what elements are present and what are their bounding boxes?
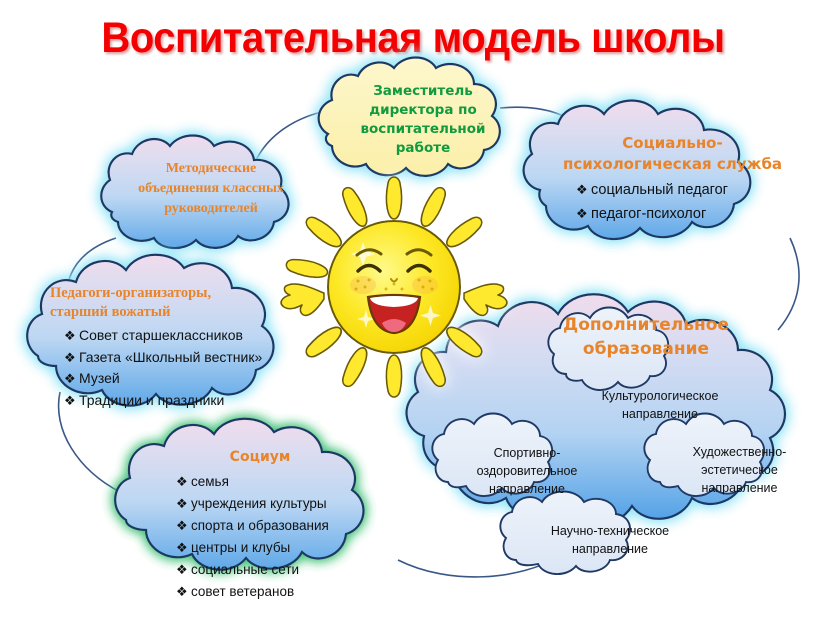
list-item-label: социальные сети bbox=[191, 562, 299, 577]
socium-list: ❖семья ❖учреждения культуры ❖спорта и об… bbox=[140, 471, 380, 603]
additional-education-heading: Дополнительное образование bbox=[546, 313, 746, 361]
list-item-label: Совет старшеклассников bbox=[79, 327, 243, 343]
sci-line-2: направление bbox=[520, 540, 700, 558]
diamond-bullet-icon: ❖ bbox=[176, 559, 191, 581]
additional-heading-line-1: Дополнительное bbox=[546, 313, 746, 337]
method-line-1: Методические bbox=[111, 159, 311, 179]
sun-right-hand bbox=[464, 284, 507, 315]
list-item: ❖Газета «Школьный вестник» bbox=[64, 347, 300, 369]
deputy-line-4: работе bbox=[333, 139, 513, 158]
list-item: ❖учреждения культуры bbox=[176, 493, 380, 515]
method-line-3: руководителей bbox=[111, 199, 311, 219]
art-line-1: Художественно- bbox=[662, 443, 817, 461]
socpsy-heading-line-1: Социально- bbox=[540, 133, 805, 154]
list-item-label: совет ветеранов bbox=[191, 584, 294, 599]
pedagogue-organizers-text: Педагоги-организаторы, старший вожатый ❖… bbox=[50, 284, 300, 411]
socium-text: Социум ❖семья ❖учреждения культуры ❖спор… bbox=[140, 448, 380, 603]
list-item-label: Традиции и праздники bbox=[79, 392, 224, 408]
diamond-bullet-icon: ❖ bbox=[576, 178, 591, 201]
diamond-bullet-icon: ❖ bbox=[176, 537, 191, 559]
list-item: ❖спорта и образования bbox=[176, 515, 380, 537]
socpsy-heading-line-2: психологическая служба bbox=[540, 154, 805, 175]
list-item-label: центры и клубы bbox=[191, 540, 290, 555]
art-line-3: направление bbox=[662, 479, 817, 497]
deputy-line-3: воспитательной bbox=[333, 120, 513, 139]
socpsy-heading: Социально- психологическая служба bbox=[540, 133, 805, 175]
additional-heading-line-2: образование bbox=[546, 337, 746, 361]
sport-line-3: направление bbox=[452, 480, 602, 498]
diamond-bullet-icon: ❖ bbox=[64, 347, 79, 369]
list-item-label: учреждения культуры bbox=[191, 496, 327, 511]
pedagogues-heading-line-1: Педагоги-организаторы, bbox=[50, 284, 300, 303]
artistic-aesthetic-direction-label: Художественно- эстетическое направление bbox=[662, 443, 817, 497]
sport-health-direction-label: Спортивно- оздоровительное направление bbox=[452, 444, 602, 498]
socpsy-list: ❖социальный педагог ❖педагог-психолог bbox=[540, 178, 805, 226]
socium-heading: Социум bbox=[140, 448, 380, 467]
methodical-associations-text: Методические объединения классных руково… bbox=[111, 159, 311, 219]
sport-line-2: оздоровительное bbox=[452, 462, 602, 480]
diagram-canvas: Воспитательная модель школы Заместитель … bbox=[0, 0, 826, 619]
deputy-line-2: директора по bbox=[333, 101, 513, 120]
list-item-label: педагог-психолог bbox=[591, 206, 706, 222]
cultural-direction-label: Культурологическое направление bbox=[570, 387, 750, 423]
list-item: ❖социальный педагог bbox=[576, 178, 805, 202]
list-item: ❖семья bbox=[176, 471, 380, 493]
list-item-label: Газета «Школьный вестник» bbox=[79, 349, 262, 365]
pedagogues-heading-line-2: старший вожатый bbox=[50, 303, 300, 322]
list-item: ❖центры и клубы bbox=[176, 537, 380, 559]
diamond-bullet-icon: ❖ bbox=[176, 515, 191, 537]
diamond-bullet-icon: ❖ bbox=[64, 390, 79, 412]
sport-line-1: Спортивно- bbox=[452, 444, 602, 462]
scientific-technical-direction-label: Научно-техническое направление bbox=[520, 522, 700, 558]
diamond-bullet-icon: ❖ bbox=[176, 493, 191, 515]
list-item: ❖педагог-психолог bbox=[576, 202, 805, 226]
pedagogues-list: ❖Совет старшеклассников ❖Газета «Школьны… bbox=[50, 325, 300, 411]
social-psychological-service-text: Социально- психологическая служба ❖социа… bbox=[540, 133, 805, 226]
sci-line-1: Научно-техническое bbox=[520, 522, 700, 540]
list-item-label: Музей bbox=[79, 370, 120, 386]
diamond-bullet-icon: ❖ bbox=[176, 581, 191, 603]
list-item: ❖Музей bbox=[64, 368, 300, 390]
diamond-bullet-icon: ❖ bbox=[64, 368, 79, 390]
method-line-2: объединения классных bbox=[111, 179, 311, 199]
list-item-label: семья bbox=[191, 474, 229, 489]
list-item: ❖Традиции и праздники bbox=[64, 390, 300, 412]
diamond-bullet-icon: ❖ bbox=[64, 325, 79, 347]
list-item: ❖Совет старшеклассников bbox=[64, 325, 300, 347]
diamond-bullet-icon: ❖ bbox=[176, 471, 191, 493]
deputy-line-1: Заместитель bbox=[333, 82, 513, 101]
list-item-label: социальный педагог bbox=[591, 182, 728, 198]
list-item-label: спорта и образования bbox=[191, 518, 329, 533]
art-line-2: эстетическое bbox=[662, 461, 817, 479]
list-item: ❖совет ветеранов bbox=[176, 581, 380, 603]
deputy-director-text: Заместитель директора по воспитательной … bbox=[333, 82, 513, 158]
diamond-bullet-icon: ❖ bbox=[576, 202, 591, 225]
list-item: ❖социальные сети bbox=[176, 559, 380, 581]
cultural-line-2: направление bbox=[570, 405, 750, 423]
pedagogues-heading: Педагоги-организаторы, старший вожатый bbox=[50, 284, 300, 322]
cultural-line-1: Культурологическое bbox=[570, 387, 750, 405]
